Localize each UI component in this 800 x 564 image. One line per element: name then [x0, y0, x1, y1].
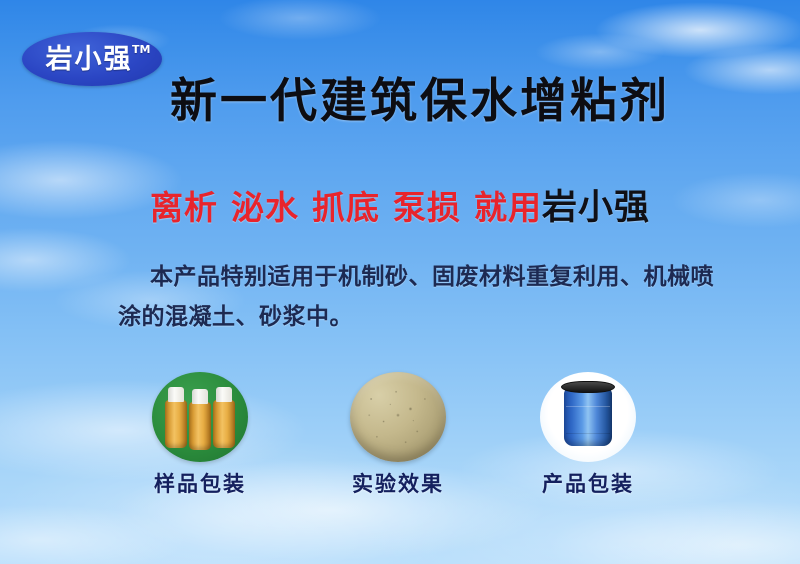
product-item-sample: 样品包装	[110, 372, 290, 498]
sample-bottles-photo	[152, 372, 248, 462]
brand-logo-text: 岩小强TM	[46, 46, 139, 73]
slogan-word-2: 泌水	[231, 188, 299, 227]
poster-canvas: 岩小强TM 新一代建筑保水增粘剂 离析泌水抓底泵损就用岩小强 本产品特别适用于机…	[0, 0, 800, 564]
headline-title: 新一代建筑保水增粘剂	[0, 76, 800, 129]
product-label: 样品包装	[110, 468, 290, 498]
bottle-icon	[165, 400, 187, 448]
slogan-brand-tail: 岩小强	[542, 188, 650, 228]
product-gallery: 样品包装 实验效果 产品包装	[0, 372, 800, 502]
blue-drum-photo	[540, 372, 636, 462]
product-label: 实验效果	[308, 468, 488, 498]
sand-rim-shading	[350, 372, 446, 462]
drum-icon	[564, 388, 612, 446]
slogan-word-5: 就用	[474, 188, 542, 227]
slogan-word-3: 抓底	[312, 188, 380, 227]
slogan-word-4: 泵损	[393, 188, 461, 227]
slogan-line: 离析泌水抓底泵损就用岩小强	[0, 188, 800, 228]
bottle-icon	[189, 402, 211, 450]
slogan-word-1: 离析	[150, 188, 218, 227]
trademark-icon: TM	[132, 44, 150, 55]
body-paragraph: 本产品特别适用于机制砂、固废材料重复利用、机械喷涂的混凝土、砂浆中。	[118, 258, 718, 337]
product-item-packaging: 产品包装	[498, 372, 678, 498]
bottle-icon	[213, 400, 235, 448]
product-label: 产品包装	[498, 468, 678, 498]
mortar-test-photo	[350, 372, 446, 462]
product-item-test: 实验效果	[308, 372, 488, 498]
